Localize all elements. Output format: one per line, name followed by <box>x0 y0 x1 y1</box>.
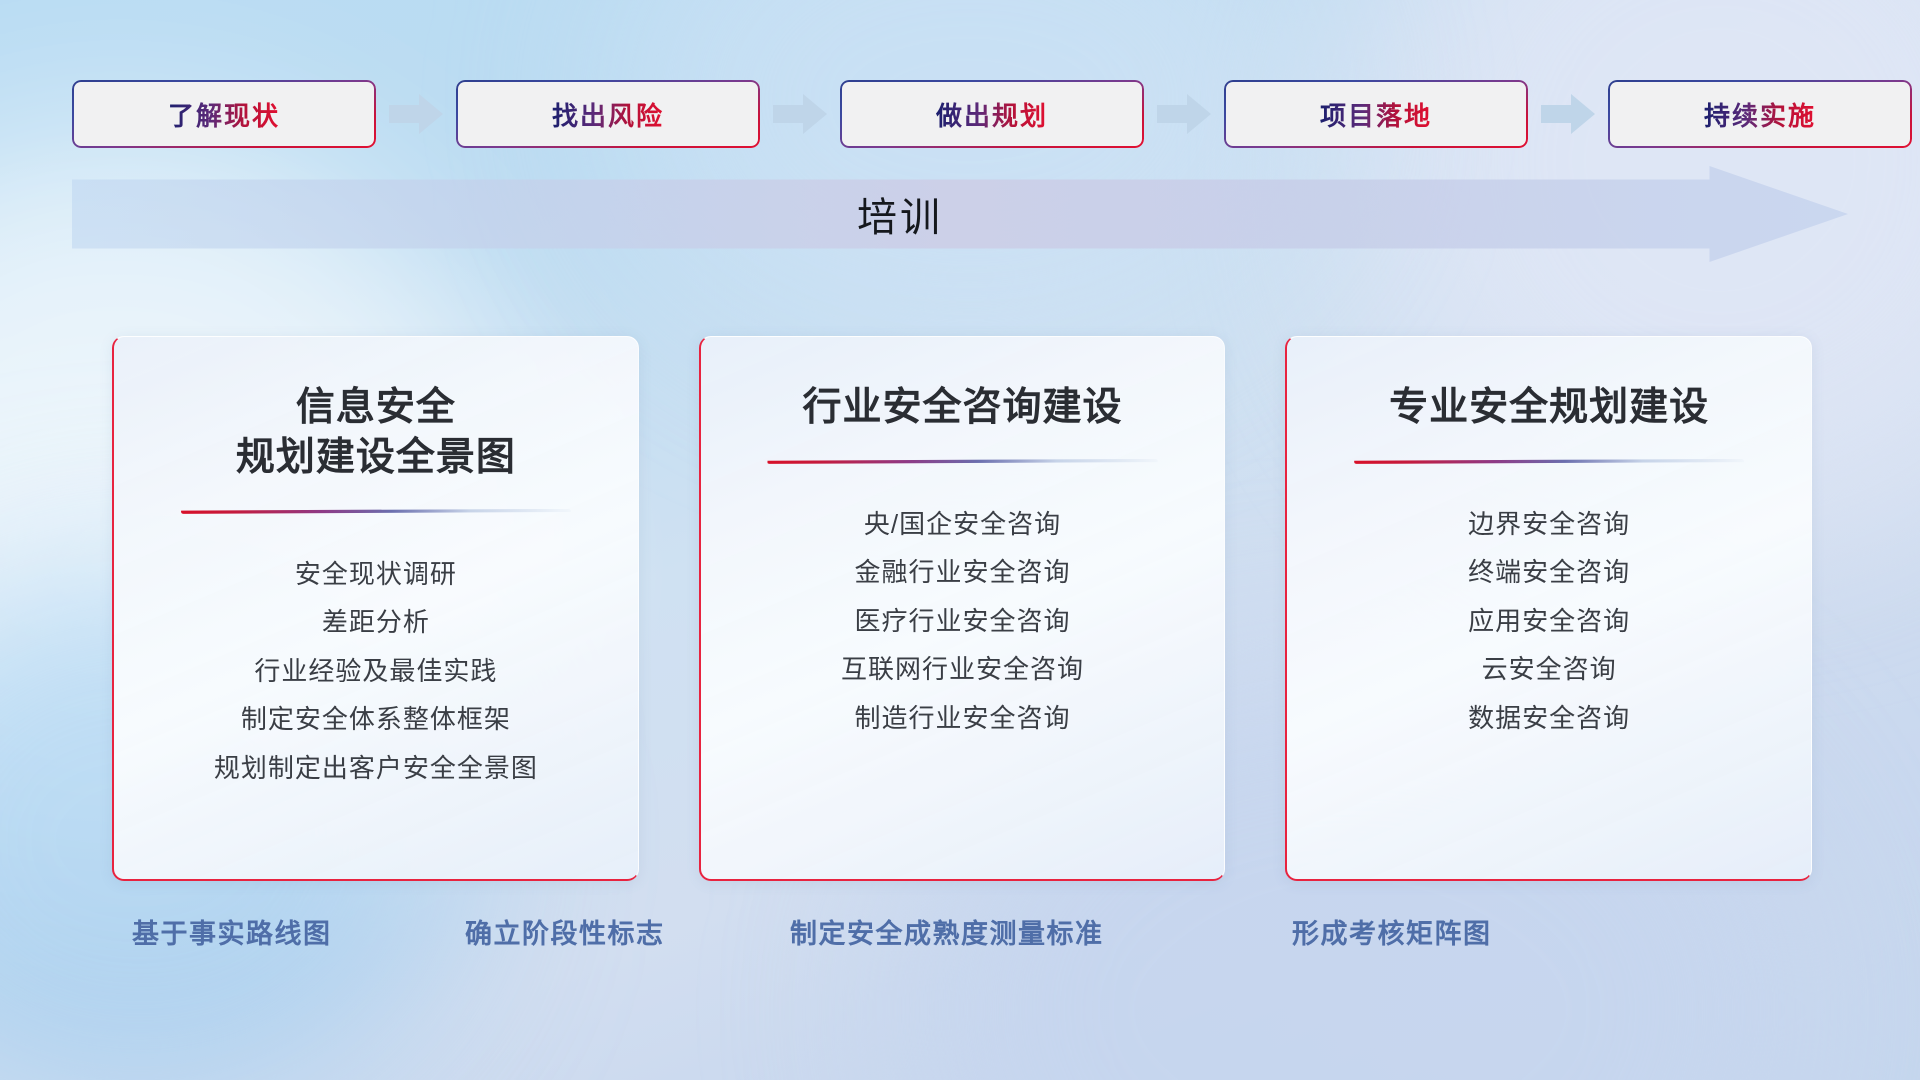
card-list-item: 边界安全咨询 <box>1468 508 1630 541</box>
card-item-list: 央/国企安全咨询 金融行业安全咨询 医疗行业安全咨询 互联网行业安全咨询 制造行… <box>725 508 1201 735</box>
card-divider <box>181 509 571 514</box>
training-banner: 培训 <box>72 166 1848 262</box>
card-list-item: 数据安全咨询 <box>1468 702 1630 735</box>
card-list-item: 医疗行业安全咨询 <box>855 605 1071 638</box>
card-item-list: 安全现状调研 差距分析 行业经验及最佳实践 制定安全体系整体框架 规划制定出客户… <box>138 558 614 785</box>
card-title: 专业安全规划建设 <box>1389 383 1709 433</box>
footnote-row: 基于事实路线图 确立阶段性标志 制定安全成熟度测量标准 形成考核矩阵图 <box>0 912 1920 968</box>
card-divider <box>1354 459 1744 464</box>
card-list-item: 制造行业安全咨询 <box>855 702 1071 735</box>
step-box-2[interactable]: 找出风险 <box>456 80 760 148</box>
step-label: 找出风险 <box>552 96 664 133</box>
card-title: 行业安全咨询建设 <box>803 383 1123 433</box>
card-list-item: 云安全咨询 <box>1482 653 1617 686</box>
step-label: 了解现状 <box>168 96 280 133</box>
card-list-item: 安全现状调研 <box>295 558 457 591</box>
card-list-item: 行业经验及最佳实践 <box>254 655 497 688</box>
step-label: 持续实施 <box>1704 96 1816 133</box>
card-divider <box>767 459 1157 464</box>
card-list-item: 金融行业安全咨询 <box>855 556 1071 589</box>
arrow-right-icon <box>386 91 446 137</box>
card-list-item: 应用安全咨询 <box>1468 605 1630 638</box>
card-list-item: 央/国企安全咨询 <box>864 508 1061 541</box>
card-title: 信息安全 规划建设全景图 <box>236 383 516 483</box>
banner-label: 培训 <box>72 166 1848 262</box>
card-list-item: 互联网行业安全咨询 <box>841 653 1084 686</box>
arrow-right-icon <box>1154 91 1214 137</box>
footnote-label: 形成考核矩阵图 <box>1292 912 1492 951</box>
slide-canvas: 了解现状 找出风险 做出规划 项目落地 <box>0 0 1920 1080</box>
process-step-flow: 了解现状 找出风险 做出规划 项目落地 <box>72 78 1848 150</box>
capability-card-2[interactable]: 行业安全咨询建设 央/国企安全咨询 金融行业安全咨询 医疗行业安全咨询 互联网行… <box>699 336 1226 881</box>
step-box-4[interactable]: 项目落地 <box>1224 80 1528 148</box>
arrow-right-icon <box>770 91 830 137</box>
capability-card-3[interactable]: 专业安全规划建设 边界安全咨询 终端安全咨询 应用安全咨询 云安全咨询 数据安全… <box>1285 336 1812 881</box>
capability-card-group: 信息安全 规划建设全景图 安全现状调研 差距分析 行业经验及最佳实践 制定安全体… <box>112 336 1812 881</box>
card-list-item: 制定安全体系整体框架 <box>241 703 511 736</box>
step-label: 项目落地 <box>1320 96 1432 133</box>
card-list-item: 终端安全咨询 <box>1468 556 1630 589</box>
arrow-right-icon <box>1538 91 1598 137</box>
step-box-5[interactable]: 持续实施 <box>1608 80 1912 148</box>
step-box-1[interactable]: 了解现状 <box>72 80 376 148</box>
card-item-list: 边界安全咨询 终端安全咨询 应用安全咨询 云安全咨询 数据安全咨询 <box>1311 508 1787 735</box>
capability-card-1[interactable]: 信息安全 规划建设全景图 安全现状调研 差距分析 行业经验及最佳实践 制定安全体… <box>112 336 639 881</box>
step-box-3[interactable]: 做出规划 <box>840 80 1144 148</box>
footnote-label: 制定安全成熟度测量标准 <box>790 912 1104 951</box>
footnote-label: 确立阶段性标志 <box>465 912 665 951</box>
card-list-item: 差距分析 <box>322 606 430 639</box>
footnote-label: 基于事实路线图 <box>132 912 332 951</box>
step-label: 做出规划 <box>936 96 1048 133</box>
card-list-item: 规划制定出客户安全全景图 <box>214 752 538 785</box>
